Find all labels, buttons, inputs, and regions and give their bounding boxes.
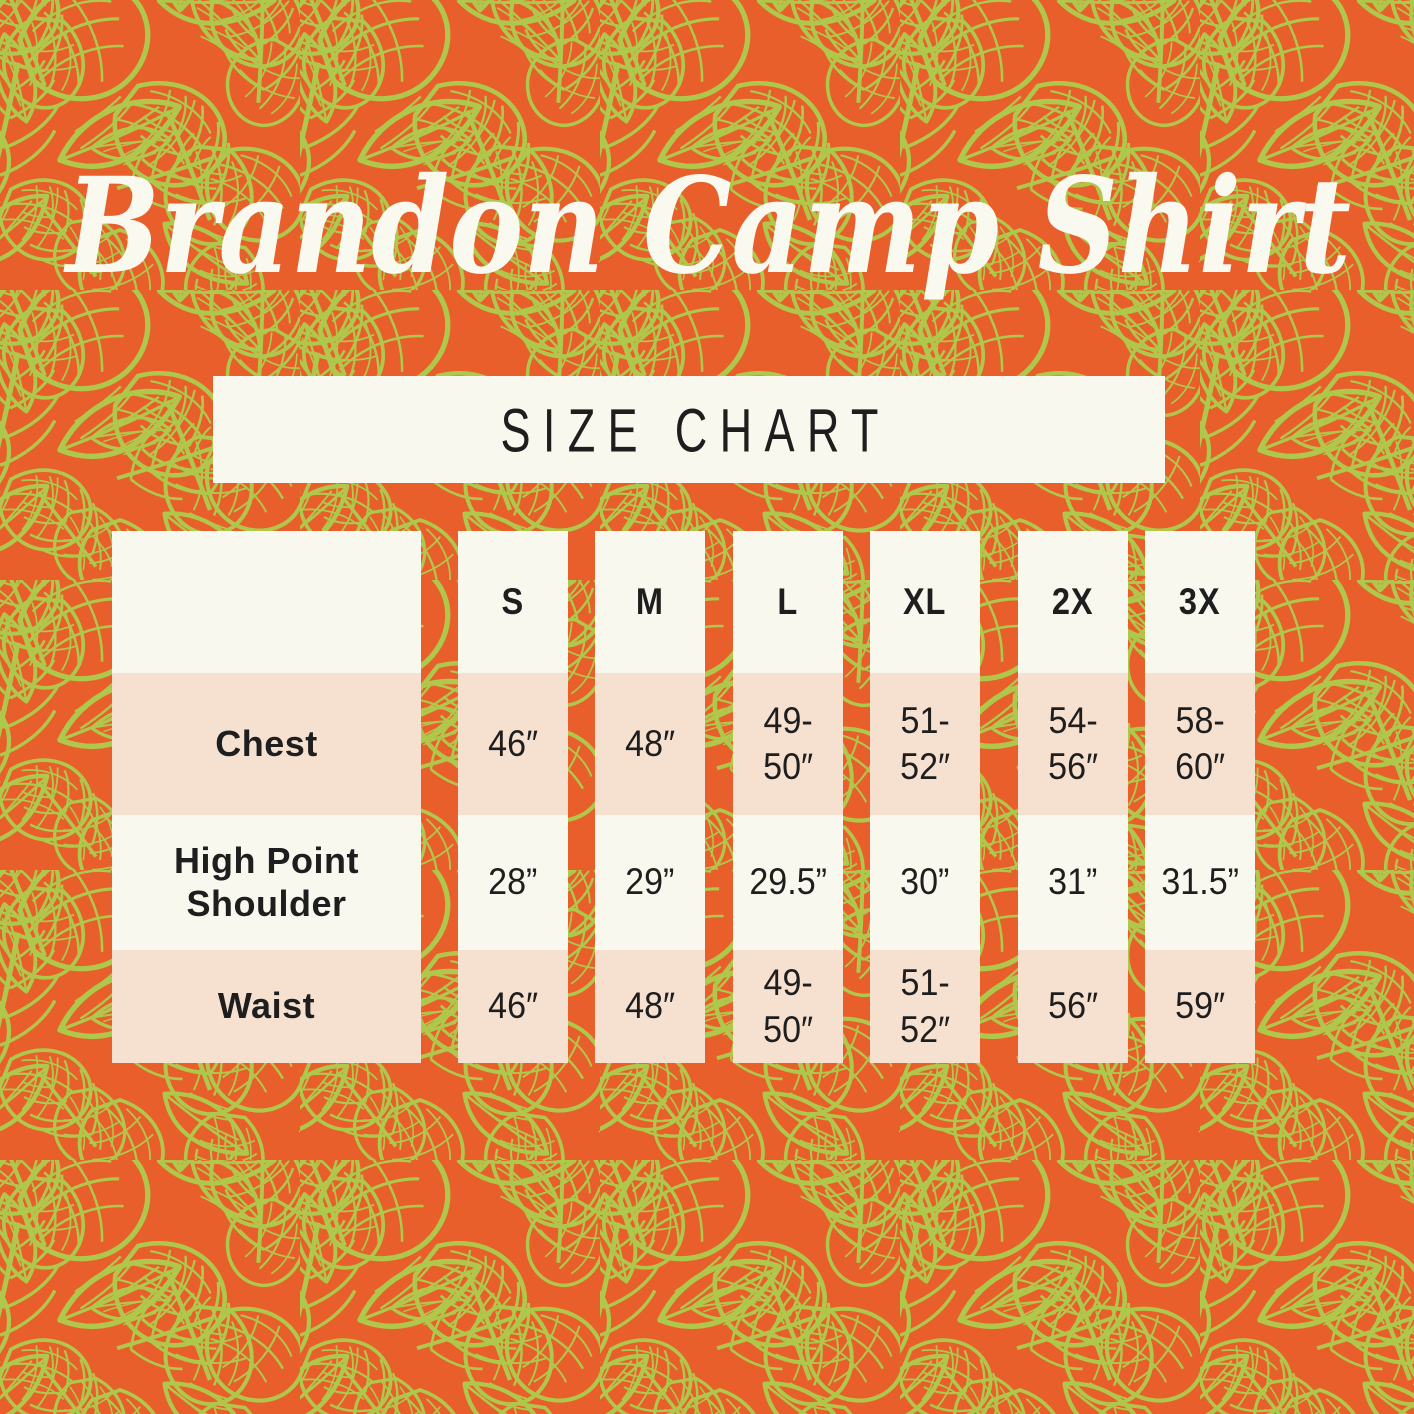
table-row-label-high-point-shoulder: High Point Shoulder <box>112 815 421 950</box>
cell-waist-m: 48″ <box>595 950 705 1063</box>
cell-high-point-shoulder-xl: 30” <box>870 815 980 950</box>
size-chart-banner-label: SIZE CHART <box>488 394 891 466</box>
table-corner-cell <box>112 531 421 673</box>
measurement-value: 56″ <box>1048 983 1098 1029</box>
measurement-value: 51- 52″ <box>900 960 950 1053</box>
page-title: Brandon Camp Shirt <box>66 150 1356 310</box>
size-header-label: S <box>502 581 525 623</box>
cell-chest-m: 48″ <box>595 673 705 815</box>
cell-waist-l: 49- 50″ <box>733 950 843 1063</box>
measurement-value: 54- 56″ <box>1048 698 1098 791</box>
cell-waist-3x: 59″ <box>1145 950 1255 1063</box>
cell-waist-2x: 56″ <box>1018 950 1128 1063</box>
size-header-label: 2X <box>1052 581 1094 623</box>
measurement-value: 48″ <box>625 721 675 767</box>
size-chart-banner: SIZE CHART <box>213 376 1165 483</box>
measurement-value: 30” <box>900 859 949 905</box>
cell-chest-xl: 51- 52″ <box>870 673 980 815</box>
cell-high-point-shoulder-s: 28” <box>458 815 568 950</box>
size-chart-table: Chest High Point Shoulder Waist S 46″ 28… <box>112 531 1255 1063</box>
size-header-label: M <box>636 581 664 623</box>
cell-high-point-shoulder-2x: 31” <box>1018 815 1128 950</box>
size-column-s: S 46″ 28” 46″ <box>458 531 568 1063</box>
measurement-value: 58- 60″ <box>1175 698 1225 791</box>
size-header-cell: 2X <box>1018 531 1128 673</box>
size-column-2x: 2X 54- 56″ 31” 56″ <box>1018 531 1128 1063</box>
measurement-value: 28” <box>488 859 537 905</box>
row-label-text: Waist <box>218 985 315 1027</box>
measurement-value: 59″ <box>1175 983 1225 1029</box>
row-label-text: High Point Shoulder <box>174 840 359 925</box>
table-row-label-waist: Waist <box>112 950 421 1063</box>
size-header-cell: S <box>458 531 568 673</box>
cell-waist-xl: 51- 52″ <box>870 950 980 1063</box>
size-column-m: M 48″ 29” 48″ <box>595 531 705 1063</box>
cell-chest-2x: 54- 56″ <box>1018 673 1128 815</box>
page-title-text: Brandon Camp Shirt <box>63 149 1351 304</box>
measurement-value: 29” <box>625 859 674 905</box>
measurement-value: 49- 50″ <box>763 960 813 1053</box>
cell-high-point-shoulder-3x: 31.5” <box>1145 815 1255 950</box>
cell-high-point-shoulder-l: 29.5” <box>733 815 843 950</box>
size-header-cell: XL <box>870 531 980 673</box>
size-header-label: L <box>778 581 799 623</box>
size-header-cell: M <box>595 531 705 673</box>
size-column-xl: XL 51- 52″ 30” 51- 52″ <box>870 531 980 1063</box>
cell-high-point-shoulder-m: 29” <box>595 815 705 950</box>
row-label-text: Chest <box>215 723 318 765</box>
size-chart-page: Brandon Camp Shirt SIZE CHART Chest High… <box>0 0 1414 1414</box>
measurement-value: 31” <box>1048 859 1097 905</box>
measurement-value: 46″ <box>488 983 538 1029</box>
size-header-cell: 3X <box>1145 531 1255 673</box>
cell-chest-l: 49- 50″ <box>733 673 843 815</box>
measurement-value: 51- 52″ <box>900 698 950 791</box>
measurement-value: 29.5” <box>749 859 827 905</box>
size-column-3x: 3X 58- 60″ 31.5” 59″ <box>1145 531 1255 1063</box>
size-column-l: L 49- 50″ 29.5” 49- 50″ <box>733 531 843 1063</box>
cell-chest-3x: 58- 60″ <box>1145 673 1255 815</box>
size-header-cell: L <box>733 531 843 673</box>
measurement-value: 46″ <box>488 721 538 767</box>
cell-chest-s: 46″ <box>458 673 568 815</box>
measurement-label-column: Chest High Point Shoulder Waist <box>112 531 421 1063</box>
cell-waist-s: 46″ <box>458 950 568 1063</box>
measurement-value: 49- 50″ <box>763 698 813 791</box>
size-header-label: 3X <box>1179 581 1221 623</box>
table-row-label-chest: Chest <box>112 673 421 815</box>
measurement-value: 48″ <box>625 983 675 1029</box>
measurement-value: 31.5” <box>1161 859 1239 905</box>
size-header-label: XL <box>903 581 946 623</box>
